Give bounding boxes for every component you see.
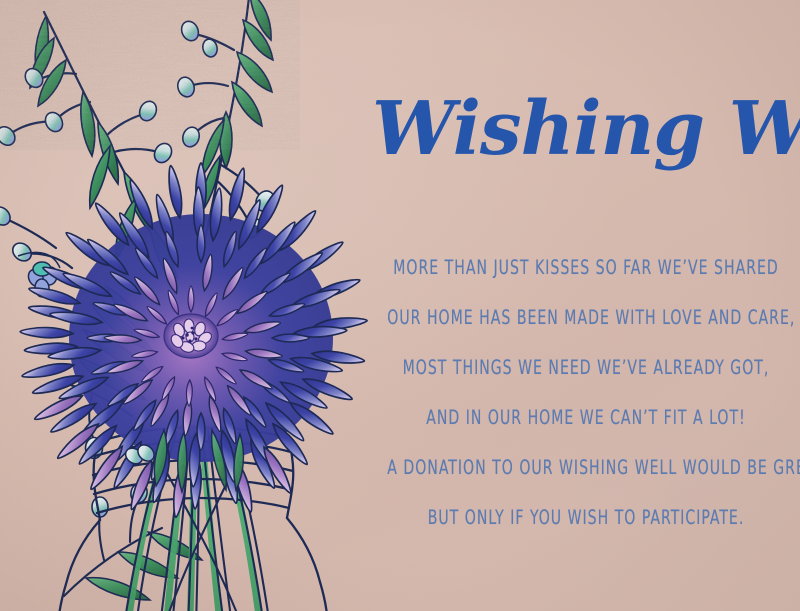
floral-illustration — [0, 0, 388, 611]
card-title: Wishing Well — [372, 92, 800, 166]
chrysanthemum-bloom — [20, 163, 368, 518]
greeting-card: Wishing Well More than just kisses so fa… — [0, 0, 800, 611]
verse-line: But only if you wish to participate. — [387, 489, 784, 547]
card-text-column: Wishing Well More than just kisses so fa… — [372, 0, 800, 611]
card-verse: More than just kisses so far we’ve share… — [370, 243, 800, 543]
